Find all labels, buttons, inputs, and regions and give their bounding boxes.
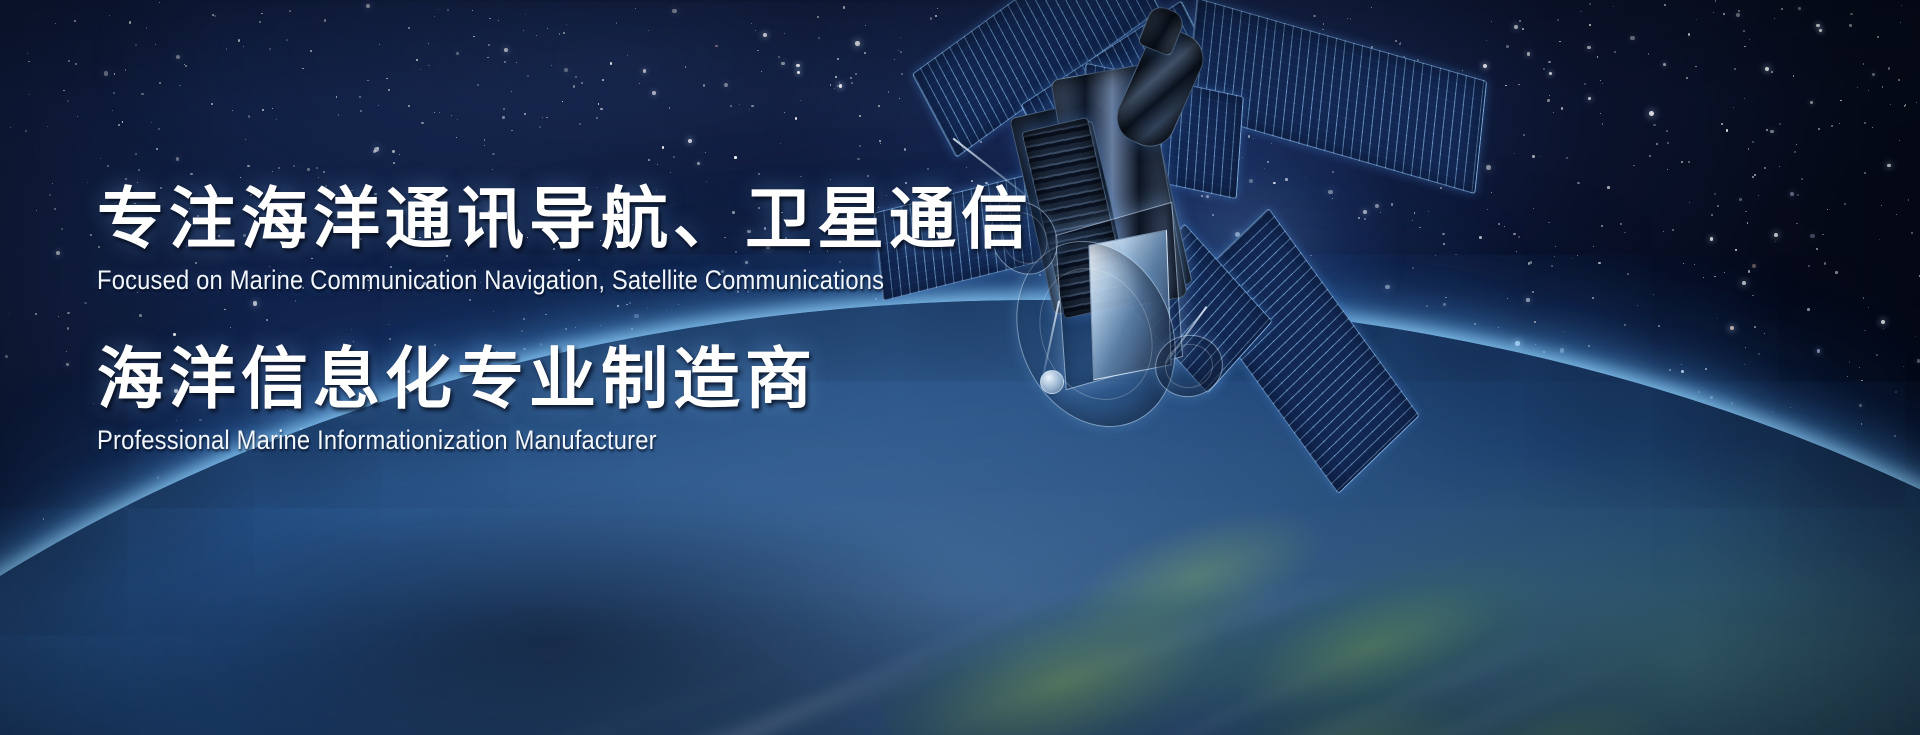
hero-banner: 专注海洋通讯导航、卫星通信 Focused on Marine Communic… xyxy=(0,0,1920,735)
headline-secondary: 海洋信息化专业制造商 xyxy=(97,346,1097,413)
banner-copy: 专注海洋通讯导航、卫星通信 Focused on Marine Communic… xyxy=(97,186,1097,454)
subtitle-primary: Focused on Marine Communication Navigati… xyxy=(97,267,977,294)
headline-primary: 专注海洋通讯导航、卫星通信 xyxy=(97,186,1097,253)
subtitle-secondary: Professional Marine Informationization M… xyxy=(97,427,977,454)
earth-ocean-shadow xyxy=(0,430,1200,735)
spacer xyxy=(97,294,1097,346)
